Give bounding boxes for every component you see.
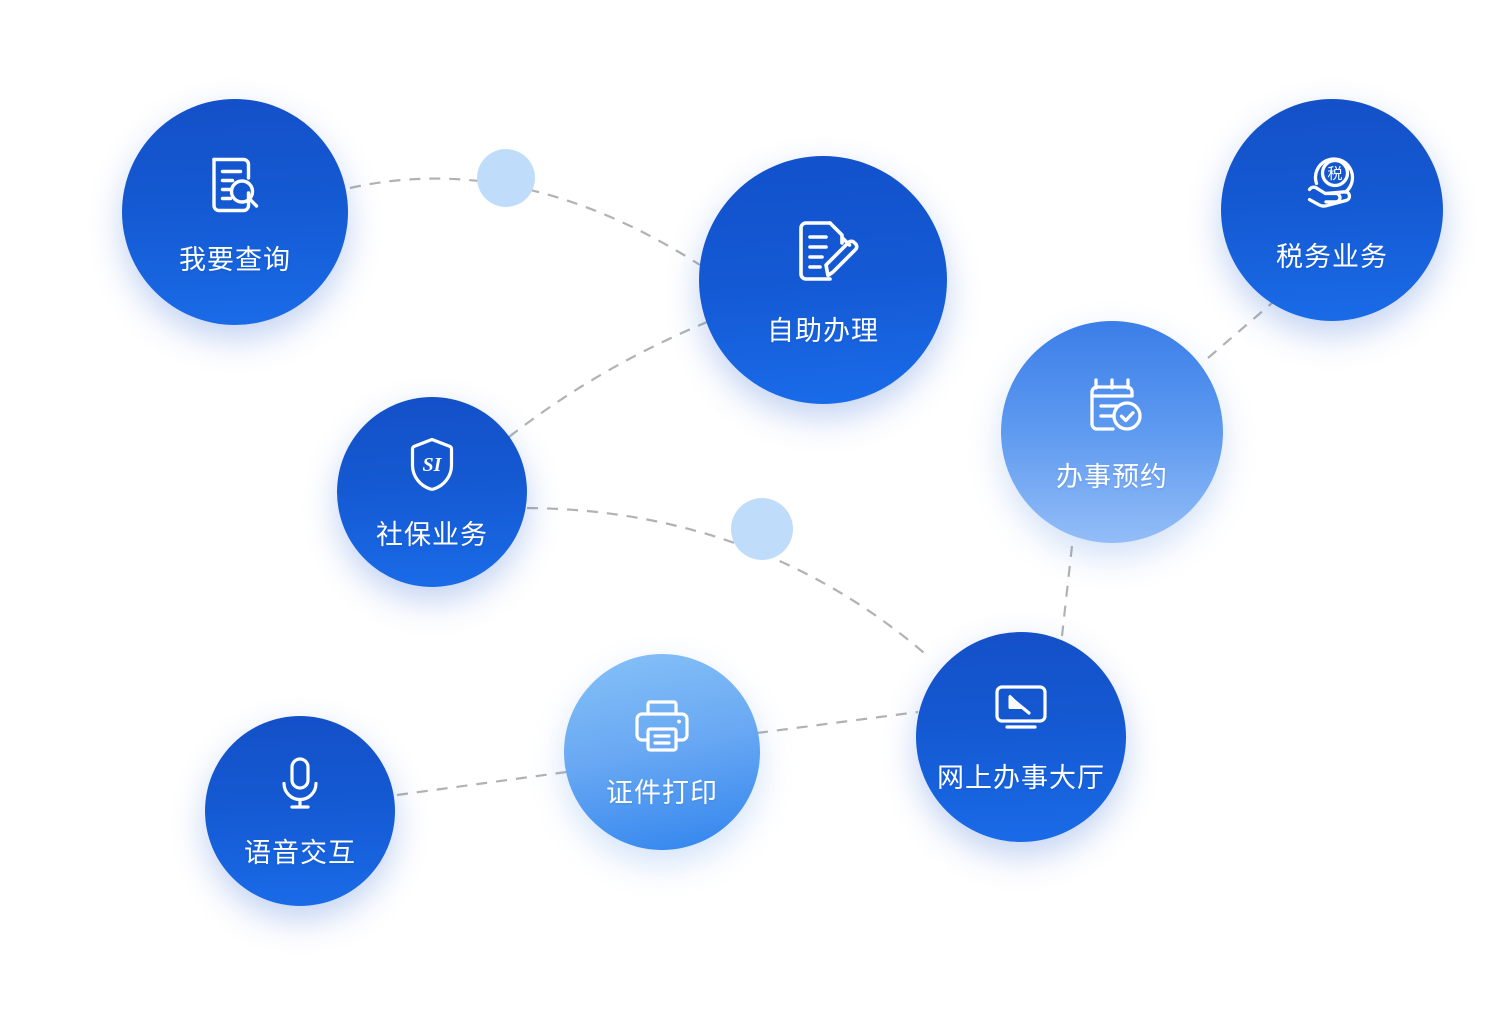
link-appt-tax xyxy=(1208,297,1279,358)
link-voice-print xyxy=(397,771,574,795)
accent-dot-1 xyxy=(477,149,535,207)
node-label: 税务业务 xyxy=(1276,235,1388,274)
document-edit-icon xyxy=(785,213,861,289)
node-label: 我要查询 xyxy=(179,238,291,277)
node-print[interactable]: 证件打印 xyxy=(564,654,760,850)
service-network-diagram: 我要查询 自助办理 税 税务业务 xyxy=(0,0,1500,1012)
node-appointment[interactable]: 办事预约 xyxy=(1001,321,1223,543)
node-social-insurance[interactable]: SI 社保业务 xyxy=(337,397,527,587)
node-label: 社保业务 xyxy=(376,513,488,552)
calendar-check-icon xyxy=(1077,371,1147,437)
node-label: 办事预约 xyxy=(1056,455,1168,494)
microphone-icon xyxy=(273,753,327,815)
link-print-hall xyxy=(757,712,918,733)
node-label: 网上办事大厅 xyxy=(937,756,1105,795)
printer-icon xyxy=(631,695,693,755)
node-label: 证件打印 xyxy=(606,771,718,810)
hand-tax-icon: 税 xyxy=(1296,147,1368,215)
monitor-cursor-icon xyxy=(989,680,1053,740)
svg-text:税: 税 xyxy=(1327,165,1342,182)
accent-dot-2 xyxy=(731,498,793,560)
shield-si-icon: SI xyxy=(402,433,462,497)
node-label: 自助办理 xyxy=(767,309,879,348)
node-query[interactable]: 我要查询 xyxy=(122,99,348,325)
link-social-self xyxy=(509,320,712,437)
node-voice[interactable]: 语音交互 xyxy=(205,716,395,906)
link-social-hall xyxy=(527,508,930,658)
node-self-service[interactable]: 自助办理 xyxy=(699,156,947,404)
node-tax[interactable]: 税 税务业务 xyxy=(1221,99,1443,321)
node-online-hall[interactable]: 网上办事大厅 xyxy=(916,632,1126,842)
link-appt-hall xyxy=(1062,546,1072,636)
svg-text:SI: SI xyxy=(423,454,443,476)
document-search-icon xyxy=(200,148,270,218)
node-label: 语音交互 xyxy=(244,831,356,870)
